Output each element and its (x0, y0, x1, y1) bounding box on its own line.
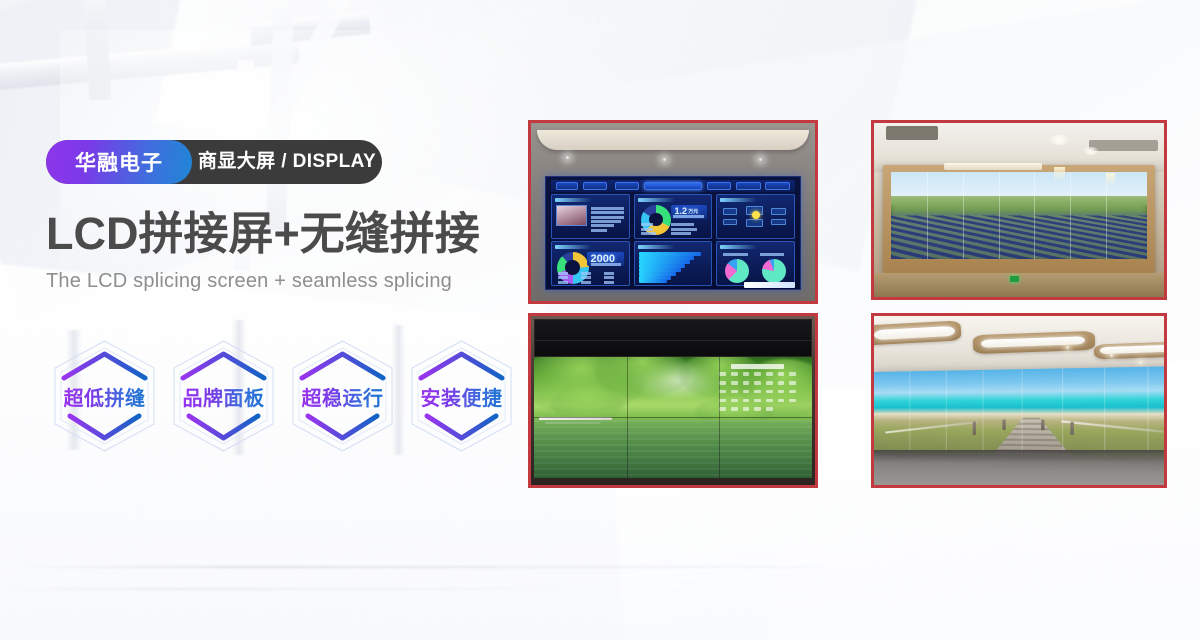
panel-seam (1034, 172, 1035, 259)
dashboard-card (716, 241, 795, 286)
card-text-line (591, 220, 622, 223)
card-title-bar (638, 245, 675, 249)
card-text-line (591, 216, 625, 219)
panel-seam (999, 172, 1000, 259)
dashboard-tab (615, 182, 639, 190)
flow-node (746, 219, 763, 227)
kpi-caption (591, 263, 622, 266)
panel-seam (874, 412, 1164, 413)
bar (639, 279, 667, 283)
panel-seam (927, 172, 928, 259)
panel-seam (1070, 172, 1071, 259)
exit-sign-icon (1010, 276, 1019, 282)
legend-item (760, 253, 785, 256)
gallery-photo-lake-scenery-video-wall[interactable] (528, 313, 818, 488)
ceiling-spotlight (1138, 360, 1143, 365)
feature-label: 超低拼缝 (64, 382, 146, 411)
dashboard-title-tab (644, 182, 702, 190)
legend-item (604, 281, 614, 284)
flow-node (723, 208, 737, 215)
ceiling-light-strip (944, 163, 1043, 170)
feature-label: 超稳运行 (302, 382, 384, 411)
fence-post (1070, 421, 1074, 434)
dashboard-tab (736, 182, 760, 190)
lcd-video-wall: 1.2 万元 (545, 176, 801, 290)
brand-category-label: 商显大屏 / DISPLAY (198, 140, 376, 184)
legend-item (671, 232, 691, 235)
pie-chart (725, 259, 749, 283)
card-title-bar (638, 198, 675, 202)
card-title-bar (555, 198, 592, 202)
floor-line (0, 588, 560, 590)
brand-badge: 商显大屏 / DISPLAY 华融电子 (46, 140, 382, 184)
gallery-photo-beach-boardwalk-video-wall[interactable] (871, 313, 1167, 488)
dashboard-card (716, 194, 795, 239)
feature-badge: 超稳运行 (286, 338, 399, 454)
card-title-bar (555, 245, 592, 249)
legend-item (558, 276, 568, 279)
ceiling-band (537, 130, 810, 150)
legend-item (581, 272, 591, 275)
panel-seam (963, 172, 964, 259)
horizon-field (891, 196, 1146, 205)
legend-item (581, 281, 591, 284)
wall-light-glow (1106, 173, 1115, 187)
dashboard-card: 2000 (551, 241, 630, 286)
card-title-bar (720, 198, 757, 202)
dashboard-tab (583, 182, 607, 190)
legend-item (641, 223, 653, 226)
calendar-overlay (718, 364, 801, 420)
gallery-photo-solar-farm-video-wall[interactable] (871, 120, 1167, 300)
legend-item (671, 228, 697, 231)
dashboard-tab (707, 182, 731, 190)
card-text-line (591, 229, 608, 232)
brand-name-label: 华融电子 (75, 147, 163, 177)
wall-light-glow (1054, 167, 1066, 183)
photo-content (874, 123, 1164, 297)
legend-item (604, 272, 614, 275)
calendar-title (731, 364, 784, 369)
dashboard-card (551, 194, 630, 239)
card-thumbnail (556, 205, 587, 226)
lcd-video-wall (874, 366, 1164, 459)
solar-panel-array (891, 215, 1146, 258)
ceiling-vent (1089, 140, 1159, 150)
legend-item (671, 223, 694, 226)
screen-watermark (744, 282, 795, 288)
dashboard-tab (556, 182, 578, 190)
dashboard-tab (765, 182, 789, 190)
pie-chart (762, 259, 786, 283)
lcd-video-wall (534, 357, 812, 479)
panel-seam (534, 417, 812, 418)
legend-item (558, 281, 568, 284)
flow-node (723, 219, 737, 225)
card-title-bar (720, 245, 757, 249)
feature-label: 品牌面板 (183, 382, 265, 411)
feature-badge: 安装便捷 (405, 338, 518, 454)
dashboard-card (634, 241, 713, 286)
fence-post (1041, 419, 1044, 430)
product-banner: 商显大屏 / DISPLAY 华融电子 LCD拼接屏+无缝拼接 The LCD … (0, 0, 1200, 640)
feature-badge: 品牌面板 (167, 338, 280, 454)
page-title: LCD拼接屏+无缝拼接 (46, 210, 526, 258)
photo-content: 1.2 万元 (531, 123, 815, 301)
legend-item (581, 276, 591, 279)
kpi-caption (673, 215, 704, 218)
brand-name-chip: 华融电子 (46, 140, 192, 184)
legend-item (641, 228, 653, 231)
dashboard-card: 1.2 万元 (634, 194, 713, 239)
lake-water (534, 420, 812, 478)
legend-item (558, 272, 568, 275)
card-text-line (591, 207, 625, 210)
flow-node (771, 219, 786, 225)
dashboard-topbar (551, 180, 794, 192)
flow-node (771, 208, 786, 215)
fence-post (972, 421, 975, 435)
card-text-line (591, 224, 614, 227)
photo-content (531, 316, 815, 485)
upper-screen-row (534, 319, 812, 356)
legend-item (641, 232, 656, 235)
flow-highlight (752, 211, 760, 219)
ceiling-light (662, 157, 667, 162)
ceiling-light (758, 157, 763, 162)
kpi-unit: 万元 (688, 208, 698, 215)
page-subtitle: The LCD splicing screen + seamless splic… (46, 270, 526, 293)
headline-block: 商显大屏 / DISPLAY 华融电子 LCD拼接屏+无缝拼接 The LCD … (46, 140, 526, 293)
ceiling-vent (886, 126, 938, 140)
legend-item (723, 253, 748, 256)
feature-badge: 超低拼缝 (48, 338, 161, 454)
photo-content (874, 316, 1164, 485)
feature-label: 安装便捷 (421, 382, 503, 411)
feature-list: 超低拼缝 品牌面板 (48, 338, 518, 454)
floor-line (0, 566, 820, 568)
gallery-photo-dashboard-video-wall[interactable]: 1.2 万元 (528, 120, 818, 304)
floor (874, 450, 1164, 485)
legend-item (604, 276, 614, 279)
card-text-line (591, 211, 625, 214)
